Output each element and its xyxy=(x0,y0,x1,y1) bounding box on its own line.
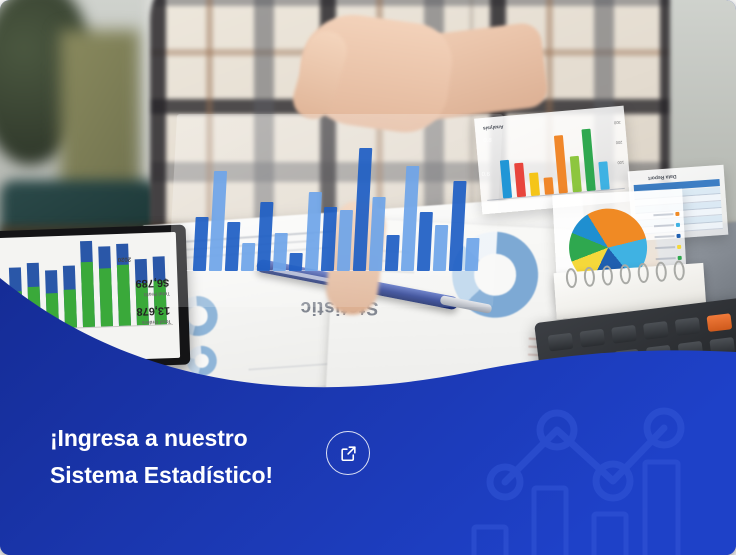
tablet-profit-value: $6,789 xyxy=(136,276,170,289)
calculator-key xyxy=(684,389,710,408)
background-photo: Statistic $6,789 Total Profit 13,678 To xyxy=(0,0,736,420)
calculator-key xyxy=(614,349,640,368)
card-bar xyxy=(598,161,609,190)
calculator-key xyxy=(678,341,704,360)
tablet-orders-label: Total Orders xyxy=(141,318,171,325)
calculator-key xyxy=(712,361,736,380)
pie-legend-swatch xyxy=(676,234,680,238)
calculator-key xyxy=(715,385,736,404)
tablet-orders-value: 13,678 xyxy=(137,304,171,317)
calculator-key xyxy=(554,380,580,399)
pie-legend-label xyxy=(656,257,676,260)
headline-line-2: Sistema Estadístico! xyxy=(50,457,330,494)
card-bar xyxy=(544,177,554,195)
pie-legend-swatch xyxy=(677,245,681,249)
promo-banner: Statistic $6,789 Total Profit 13,678 To xyxy=(0,0,736,555)
hologram-bar-chart: 0.8 0.6 0.4 xyxy=(186,128,485,293)
calculator-key xyxy=(707,313,733,332)
watermark-line xyxy=(505,428,664,482)
tablet-legend-year: 2020 xyxy=(117,255,131,261)
pie-legend-swatch xyxy=(676,223,680,227)
calculator-key xyxy=(585,376,611,395)
calculator-key xyxy=(620,396,646,415)
page-title: ¡Ingresa a nuestro Sistema Estadístico! xyxy=(50,420,330,495)
card-bar-chart-title: Analysis xyxy=(483,123,504,131)
watermark-bar-2 xyxy=(594,514,626,555)
external-link-button[interactable] xyxy=(326,431,370,475)
pie-legend-label xyxy=(655,246,675,249)
tablet-profit-label: Total Profit xyxy=(144,290,170,297)
pie-legend-swatch xyxy=(678,256,682,260)
pie-legend-label xyxy=(655,235,675,238)
calculator-key xyxy=(556,404,582,420)
watermark-bar-1 xyxy=(534,488,566,555)
calculator-key xyxy=(588,400,614,419)
calculator-key xyxy=(617,373,643,392)
calculator-key xyxy=(649,369,675,388)
headline-line-1: ¡Ingresa a nuestro xyxy=(50,420,330,457)
watermark-node-1 xyxy=(490,467,520,497)
calculator-key xyxy=(579,329,605,348)
calculator-key xyxy=(611,325,637,344)
calculator-key xyxy=(643,321,669,340)
hologram-bar xyxy=(273,233,288,271)
calculator-key xyxy=(709,337,735,356)
pie-legend-swatch xyxy=(675,212,679,216)
calculator-key xyxy=(582,353,608,372)
calculator-key xyxy=(646,345,672,364)
hologram-bar xyxy=(465,238,480,271)
pie-legend-label xyxy=(653,213,673,216)
calculator-key xyxy=(681,365,707,384)
pie-legend-label xyxy=(654,224,674,227)
hologram-bar xyxy=(289,253,303,271)
calculator-key xyxy=(551,357,577,376)
calculator-key xyxy=(675,317,701,336)
external-link-icon xyxy=(339,444,358,463)
card-bar xyxy=(500,159,512,198)
calculator-key xyxy=(548,333,574,352)
hologram-bar xyxy=(241,243,255,271)
watermark-node-3 xyxy=(596,464,630,498)
hologram-bar xyxy=(433,225,448,271)
watermark-bar-3 xyxy=(645,462,678,555)
calculator-key xyxy=(652,392,678,411)
card-bar xyxy=(529,172,540,196)
hologram-bar xyxy=(225,222,241,271)
card-bar xyxy=(554,135,568,194)
hologram-bar xyxy=(385,235,400,271)
card-bar xyxy=(581,129,595,191)
watermark-bar-0 xyxy=(474,527,506,555)
analytics-chart-watermark xyxy=(474,411,681,555)
card-data-table-title: Data Report xyxy=(648,173,677,181)
tablet-screen: $6,789 Total Profit 13,678 Total Orders … xyxy=(0,232,180,364)
tablet-device: $6,789 Total Profit 13,678 Total Orders … xyxy=(0,225,190,372)
card-bar xyxy=(514,163,526,197)
card-bar xyxy=(570,155,582,192)
